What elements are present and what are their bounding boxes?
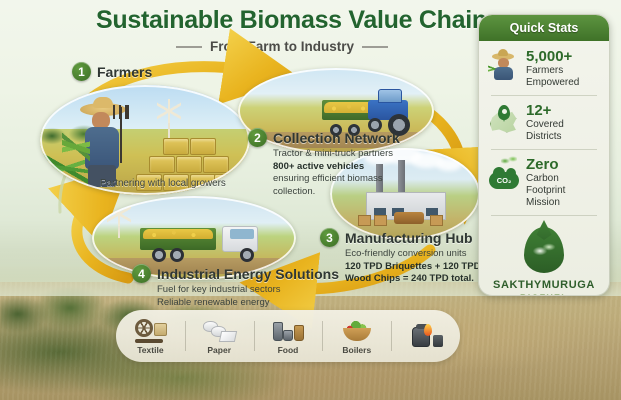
brand-subtitle: BIOFUEL (520, 293, 568, 296)
step-4-line-2: Reliable renewable energy (157, 297, 339, 310)
salad-bowl-icon (340, 317, 374, 343)
step-2-head: 2 Collection Network (248, 128, 400, 147)
step-2-line-4: collection. (273, 186, 400, 199)
overalls (85, 127, 119, 169)
crop-bundle-icon (62, 125, 90, 169)
paper-roll-icon (202, 317, 236, 343)
boiler-furnace-icon (409, 322, 443, 348)
windshield (230, 229, 254, 239)
step-1-badge: 1 (72, 62, 91, 81)
leaf-droplet-icon (524, 227, 564, 273)
sector-textile-label: Textile (137, 345, 163, 355)
sector-food-label: Food (278, 345, 299, 355)
sector-paper[interactable]: Paper (185, 310, 254, 362)
brand-block: SAKTHYMURUGA BIOFUEL (479, 215, 609, 296)
shirt (89, 127, 115, 141)
step-4-line-1: Fuel for key industrial sectors (157, 284, 339, 297)
step-4-industrial-energy-solutions[interactable]: 4 Industrial Energy Solutions Fuel for k… (132, 264, 339, 309)
step-4-title: Industrial Energy Solutions (157, 266, 339, 282)
step-3-line-1: Eco-friendly conversion units (345, 248, 480, 261)
brand-sub-row: BIOFUEL (487, 293, 601, 296)
stat-zero-carbon: CO₂ Zero Carbon Footprint Mission (479, 149, 609, 215)
step-1-farmers[interactable]: 1 Farmers (72, 62, 152, 81)
sector-boilers[interactable]: Boilers (322, 310, 391, 362)
map-pin-icon (489, 105, 519, 135)
step-3-line-3: Wood Chips = 240 TPD total. (345, 273, 480, 286)
sector-boilers-label: Boilers (342, 345, 371, 355)
tractor-cab (378, 89, 402, 103)
brand-name: SAKTHYMURUGA (487, 279, 601, 291)
quick-stats-header: Quick Stats (479, 15, 609, 41)
step-1-caption: Partnering with local growers (100, 178, 226, 189)
stat-districts-text: 12+ Covered Districts (526, 103, 564, 143)
subtitle-row: From Farm to Industry (96, 39, 468, 54)
step-1-head: 1 Farmers (72, 62, 152, 81)
step-3-line-2: 120 TPD Briquettes + 120 TPD (345, 261, 480, 274)
stat-carbon-line-3: Mission (526, 197, 565, 209)
biomass-load (143, 229, 213, 239)
dash-left-icon (176, 46, 202, 48)
step-3-lines: Eco-friendly conversion units 120 TPD Br… (345, 248, 480, 286)
infographic-canvas: Sustainable Biomass Value Chain From Far… (0, 0, 621, 400)
step-4-badge: 4 (132, 264, 151, 283)
sector-paper-label: Paper (207, 345, 231, 355)
step-1-title: Farmers (97, 64, 152, 80)
sky (40, 85, 250, 131)
stat-carbon-number: Zero (526, 157, 565, 173)
stat-farmers-number: 5,000+ (526, 49, 579, 65)
step-2-line-2: 800+ active vehicles (273, 161, 400, 174)
trees (40, 122, 112, 148)
stat-farmers-empowered: 5,000+ Farmers Empowered (479, 41, 609, 95)
step-3-badge: 3 (320, 228, 339, 247)
biomass-load (324, 102, 374, 113)
stat-districts-line-1: Covered (526, 119, 564, 131)
windmill-icon (118, 212, 120, 238)
trailer (322, 100, 374, 120)
step-3-head: 3 Manufacturing Hub (320, 228, 480, 247)
truck-cab (222, 226, 258, 252)
step-4-head: 4 Industrial Energy Solutions (132, 264, 339, 283)
step-3-manufacturing-hub[interactable]: 3 Manufacturing Hub Eco-friendly convers… (320, 228, 480, 286)
industrial-sectors-bar: Textile Paper Food Boilers (116, 310, 460, 362)
face (92, 112, 110, 129)
sector-textile[interactable]: Textile (116, 310, 185, 362)
step-2-badge: 2 (248, 128, 267, 147)
stat-farmers-line-2: Empowered (526, 77, 579, 89)
page-title: Sustainable Biomass Value Chain (96, 6, 468, 35)
stat-districts-number: 12+ (526, 103, 564, 119)
stat-farmers-line-1: Farmers (526, 65, 579, 77)
stat-carbon-line-2: Footprint (526, 185, 565, 197)
quick-stats-title: Quick Stats (510, 21, 579, 35)
straw-hat-icon (80, 103, 126, 116)
stat-farmers-text: 5,000+ Farmers Empowered (526, 49, 579, 89)
farmer-figure (76, 103, 130, 187)
truck-bed (140, 228, 216, 250)
header: Sustainable Biomass Value Chain From Far… (96, 6, 468, 54)
stat-carbon-line-1: Carbon (526, 173, 565, 185)
stat-covered-districts: 12+ Covered Districts (479, 95, 609, 149)
step-2-collection-network[interactable]: 2 Collection Network Tractor & mini-truc… (248, 128, 400, 198)
pitchfork-icon (120, 107, 122, 163)
co2-leaf-icon: CO₂ (489, 159, 519, 189)
step-2-line-1: Tractor & mini-truck partners (273, 148, 400, 161)
windmill-icon (168, 109, 170, 143)
stat-districts-line-2: Districts (526, 131, 564, 143)
spinning-wheel-icon (133, 317, 167, 343)
cooking-pots-icon (271, 317, 305, 343)
step-3-title: Manufacturing Hub (345, 230, 473, 246)
sector-furnace[interactable] (391, 310, 460, 362)
step-4-lines: Fuel for key industrial sectors Reliable… (157, 284, 339, 309)
delivery-truck-icon (140, 220, 258, 262)
step-2-line-3: ensuring efficient biomass (273, 173, 400, 186)
dash-right-icon (362, 46, 388, 48)
step-2-lines: Tractor & mini-truck partners 800+ activ… (273, 148, 400, 198)
wood-chip-pile (394, 212, 424, 224)
sector-food[interactable]: Food (254, 310, 323, 362)
tractor-body (368, 100, 408, 120)
quick-stats-panel: Quick Stats 5,000+ Farmers Empowered 12+… (478, 14, 610, 296)
step-2-title: Collection Network (273, 130, 400, 146)
page-subtitle: From Farm to Industry (210, 39, 354, 54)
farmer-icon (489, 51, 519, 81)
stat-carbon-text: Zero Carbon Footprint Mission (526, 157, 565, 209)
